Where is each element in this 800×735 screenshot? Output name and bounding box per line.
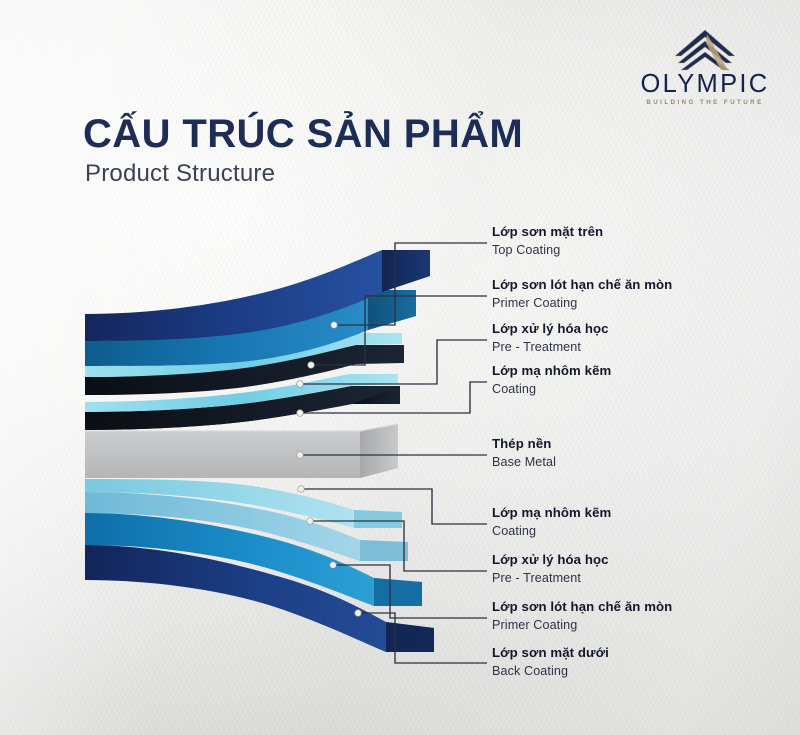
- callout-subtitle: Pre - Treatment: [492, 339, 609, 355]
- callout-primer-coating-bottom: Lớp sơn lót hạn chế ăn mòn Primer Coatin…: [492, 599, 672, 633]
- callout-title: Lớp mạ nhôm kẽm: [492, 505, 611, 522]
- callout-title: Lớp mạ nhôm kẽm: [492, 363, 611, 380]
- callout-base-metal: Thép nền Base Metal: [492, 436, 556, 470]
- layer-dot-marker: [331, 322, 338, 329]
- callout-subtitle: Pre - Treatment: [492, 570, 609, 586]
- callout-subtitle: Primer Coating: [492, 617, 672, 633]
- layer-dot-marker: [355, 610, 362, 617]
- callout-title: Lớp xử lý hóa học: [492, 552, 609, 569]
- layer-dot-marker: [297, 381, 304, 388]
- callout-pre-treatment-bottom: Lớp xử lý hóa học Pre - Treatment: [492, 552, 609, 586]
- top-layer-group: [85, 250, 430, 430]
- layer-base-metal: [85, 424, 398, 478]
- callout-title: Lớp sơn lót hạn chế ăn mòn: [492, 277, 672, 294]
- callout-subtitle: Top Coating: [492, 242, 603, 258]
- callout-coating-bottom: Lớp mạ nhôm kẽm Coating: [492, 505, 611, 539]
- callout-pre-treatment: Lớp xử lý hóa học Pre - Treatment: [492, 321, 609, 355]
- layer-dot-marker: [330, 562, 337, 569]
- callout-subtitle: Primer Coating: [492, 295, 672, 311]
- product-structure-diagram: [0, 0, 800, 735]
- layer-dot-marker: [297, 410, 304, 417]
- poster-canvas: OLYMPIC BUILDING THE FUTURE CẤU TRÚC SẢN…: [0, 0, 800, 735]
- callout-coating: Lớp mạ nhôm kẽm Coating: [492, 363, 611, 397]
- callout-subtitle: Base Metal: [492, 454, 556, 470]
- callout-title: Lớp sơn mặt dưới: [492, 645, 609, 662]
- callout-top-coating: Lớp sơn mặt trên Top Coating: [492, 224, 603, 258]
- callout-subtitle: Back Coating: [492, 663, 609, 679]
- callout-title: Lớp sơn lót hạn chế ăn mòn: [492, 599, 672, 616]
- callout-back-coating: Lớp sơn mặt dưới Back Coating: [492, 645, 609, 679]
- callout-title: Thép nền: [492, 436, 556, 453]
- callout-title: Lớp sơn mặt trên: [492, 224, 603, 241]
- layer-dot-marker: [297, 452, 304, 459]
- callout-subtitle: Coating: [492, 381, 611, 397]
- callout-subtitle: Coating: [492, 523, 611, 539]
- layer-dot-marker: [298, 486, 305, 493]
- layer-dot-marker: [308, 362, 315, 369]
- layer-dot-marker: [307, 518, 314, 525]
- callout-title: Lớp xử lý hóa học: [492, 321, 609, 338]
- callout-primer-coating: Lớp sơn lót hạn chế ăn mòn Primer Coatin…: [492, 277, 672, 311]
